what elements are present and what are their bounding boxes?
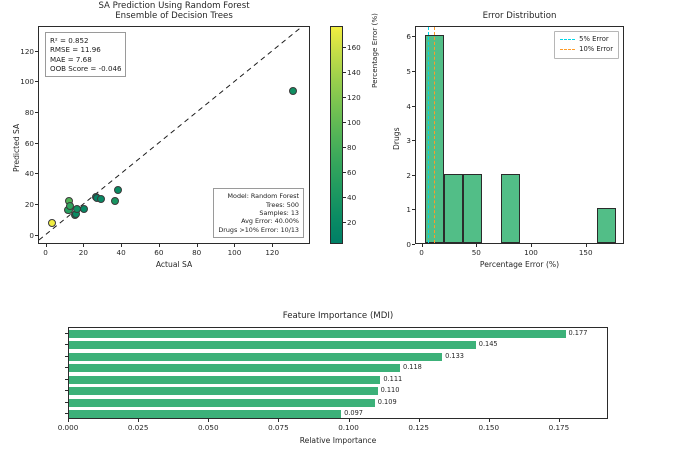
- importance-value-label: 0.145: [479, 340, 498, 348]
- x-tick-mark: [138, 419, 139, 422]
- y-tick-mark: [65, 344, 68, 345]
- y-tick-mark: [65, 390, 68, 391]
- y-tick-label: 0: [12, 231, 34, 240]
- colorbar-gradient: [330, 26, 343, 244]
- y-tick-label: 6: [395, 32, 411, 41]
- histogram-bar: [597, 208, 616, 243]
- x-tick-mark: [83, 244, 84, 247]
- colorbar-tick-label: 60: [347, 168, 356, 177]
- x-tick-mark: [419, 419, 420, 422]
- y-tick-mark: [65, 356, 68, 357]
- colorbar-tick-label: 20: [347, 218, 356, 227]
- y-tick-label: 80: [12, 108, 34, 117]
- colorbar-tick-label: 100: [347, 118, 361, 127]
- x-tick-mark: [349, 419, 350, 422]
- y-tick-label: 2: [395, 171, 411, 180]
- x-tick-mark: [272, 244, 273, 247]
- x-tick-mark: [208, 419, 209, 422]
- x-tick-mark: [531, 244, 532, 247]
- y-tick-mark: [412, 106, 415, 107]
- scatter-point: [97, 195, 105, 203]
- dashed-line-icon: [560, 39, 575, 40]
- x-tick-label: 0.150: [469, 423, 509, 432]
- y-tick-label: 4: [395, 102, 411, 111]
- legend-entry-5pct: 5% Error: [560, 35, 613, 45]
- importance-bar: [69, 353, 442, 361]
- y-tick-mark: [35, 143, 38, 144]
- y-tick-mark: [35, 235, 38, 236]
- reference-line: [428, 27, 429, 243]
- scatter-point: [289, 87, 297, 95]
- y-tick-mark: [412, 36, 415, 37]
- colorbar-tick-label: 140: [347, 68, 361, 77]
- x-tick-mark: [234, 244, 235, 247]
- x-tick-mark: [197, 244, 198, 247]
- figure-canvas: SA Prediction Using Random Forest Ensemb…: [0, 0, 685, 456]
- y-tick-mark: [412, 244, 415, 245]
- colorbar-tick-mark: [343, 47, 346, 48]
- x-tick-label: 0.050: [188, 423, 228, 432]
- x-tick-mark: [422, 244, 423, 247]
- y-tick-mark: [412, 175, 415, 176]
- y-tick-mark: [65, 402, 68, 403]
- reference-line: [434, 27, 435, 243]
- y-tick-mark: [65, 333, 68, 334]
- x-tick-mark: [278, 419, 279, 422]
- x-tick-label: 0.075: [258, 423, 298, 432]
- colorbar-tick-mark: [343, 172, 346, 173]
- x-tick-mark: [121, 244, 122, 247]
- x-tick-mark: [46, 244, 47, 247]
- scatter-point: [48, 219, 56, 227]
- model-info-box: Model: Random Forest Trees: 500 Samples:…: [213, 188, 304, 238]
- colorbar-tick-mark: [343, 72, 346, 73]
- scatter-axes: R² = 0.852 RMSE = 11.96 MAE = 7.68 OOB S…: [38, 26, 310, 244]
- importance-value-label: 0.109: [378, 398, 397, 406]
- histogram-axes: 5% Error 10% Error: [415, 26, 624, 244]
- x-tick-mark: [489, 419, 490, 422]
- histogram-bar: [463, 174, 482, 243]
- importance-axes: [68, 327, 608, 419]
- y-tick-mark: [35, 204, 38, 205]
- importance-title: Feature Importance (MDI): [68, 311, 608, 321]
- metrics-box: R² = 0.852 RMSE = 11.96 MAE = 7.68 OOB S…: [45, 32, 126, 77]
- colorbar-tick-label: 80: [347, 143, 356, 152]
- importance-x-axis-label: Relative Importance: [68, 436, 608, 445]
- x-tick-label: 100: [220, 248, 248, 257]
- y-tick-mark: [35, 112, 38, 113]
- legend-label-10pct: 10% Error: [579, 45, 613, 55]
- y-tick-label: 120: [12, 47, 34, 56]
- colorbar-tick-mark: [343, 147, 346, 148]
- importance-value-label: 0.177: [569, 329, 588, 337]
- importance-value-label: 0.133: [445, 352, 464, 360]
- x-tick-label: 120: [258, 248, 286, 257]
- histogram-bar: [501, 174, 520, 243]
- scatter-title: SA Prediction Using Random Forest Ensemb…: [38, 1, 310, 22]
- scatter-y-axis-label: Predicted SA: [12, 124, 21, 172]
- colorbar-tick-label: 160: [347, 43, 361, 52]
- y-tick-mark: [65, 367, 68, 368]
- colorbar-tick-mark: [343, 222, 346, 223]
- importance-value-label: 0.118: [403, 363, 422, 371]
- histogram-bar: [444, 174, 463, 243]
- x-tick-label: 0.125: [399, 423, 439, 432]
- y-tick-mark: [412, 71, 415, 72]
- legend-label-5pct: 5% Error: [579, 35, 609, 45]
- colorbar-label: Percentage Error (%): [370, 13, 379, 88]
- y-tick-label: 5: [395, 67, 411, 76]
- y-tick-label: 20: [12, 200, 34, 209]
- y-tick-mark: [35, 173, 38, 174]
- y-tick-mark: [65, 413, 68, 414]
- colorbar-tick-mark: [343, 197, 346, 198]
- x-tick-label: 0: [408, 248, 436, 257]
- scatter-point: [114, 186, 122, 194]
- x-tick-label: 50: [462, 248, 490, 257]
- colorbar-tick-label: 120: [347, 93, 361, 102]
- importance-bar: [69, 376, 380, 384]
- x-tick-label: 0.175: [539, 423, 579, 432]
- x-tick-label: 60: [145, 248, 173, 257]
- x-tick-label: 40: [107, 248, 135, 257]
- y-tick-label: 100: [12, 77, 34, 86]
- x-tick-label: 80: [183, 248, 211, 257]
- x-tick-label: 0.000: [48, 423, 88, 432]
- y-tick-mark: [35, 51, 38, 52]
- y-tick-mark: [35, 81, 38, 82]
- importance-bar: [69, 364, 400, 372]
- scatter-x-axis-label: Actual SA: [38, 260, 310, 269]
- x-tick-mark: [559, 419, 560, 422]
- x-tick-label: 100: [517, 248, 545, 257]
- x-tick-mark: [68, 419, 69, 422]
- x-tick-label: 0: [32, 248, 60, 257]
- y-tick-mark: [412, 140, 415, 141]
- scatter-point: [80, 205, 88, 213]
- importance-value-label: 0.097: [344, 409, 363, 417]
- x-tick-mark: [476, 244, 477, 247]
- x-tick-label: 150: [572, 248, 600, 257]
- colorbar-tick-mark: [343, 97, 346, 98]
- importance-value-label: 0.111: [383, 375, 402, 383]
- x-tick-mark: [159, 244, 160, 247]
- x-tick-label: 0.100: [329, 423, 369, 432]
- colorbar-tick-mark: [343, 122, 346, 123]
- x-tick-label: 0.025: [118, 423, 158, 432]
- legend-entry-10pct: 10% Error: [560, 45, 613, 55]
- scatter-point: [111, 197, 119, 205]
- y-tick-mark: [412, 209, 415, 210]
- importance-bar: [69, 341, 476, 349]
- dashed-line-icon: [560, 49, 575, 50]
- importance-bar: [69, 330, 566, 338]
- x-tick-label: 20: [69, 248, 97, 257]
- y-tick-label: 1: [395, 205, 411, 214]
- histogram-title: Error Distribution: [415, 11, 624, 21]
- importance-bar: [69, 387, 378, 395]
- importance-bar: [69, 399, 375, 407]
- importance-bar: [69, 410, 341, 418]
- y-tick-mark: [65, 379, 68, 380]
- y-tick-label: 0: [395, 240, 411, 249]
- x-tick-mark: [586, 244, 587, 247]
- colorbar-tick-label: 40: [347, 193, 356, 202]
- histogram-legend: 5% Error 10% Error: [554, 31, 619, 59]
- importance-value-label: 0.110: [381, 386, 400, 394]
- histogram-x-axis-label: Percentage Error (%): [415, 260, 624, 269]
- histogram-y-axis-label: Drugs: [392, 127, 401, 150]
